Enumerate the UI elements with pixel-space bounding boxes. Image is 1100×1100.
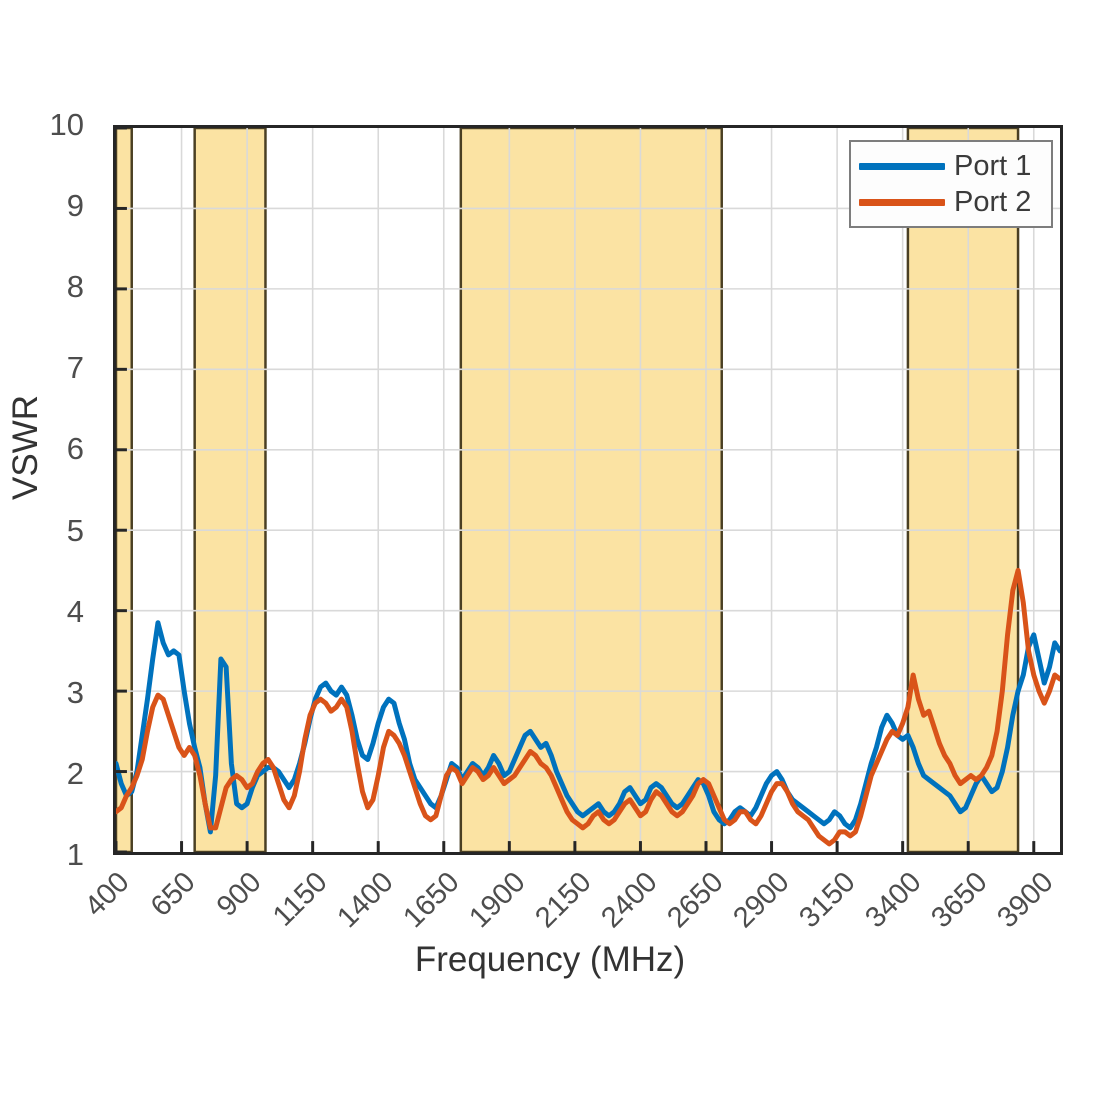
y-tick-label: 10 (24, 107, 84, 143)
plot-canvas (116, 128, 1060, 852)
y-tick-label: 5 (24, 513, 84, 549)
vswr-chart-figure: VSWR Frequency (MHz) 12345678910 4006509… (0, 0, 1100, 1100)
y-tick-label: 2 (24, 756, 84, 792)
y-tick-label: 1 (24, 837, 84, 873)
legend-item[interactable]: Port 2 (859, 185, 1043, 219)
y-tick-label: 7 (24, 350, 84, 386)
highlight-band (908, 128, 1018, 852)
y-tick-label: 9 (24, 188, 84, 224)
y-tick-label: 8 (24, 269, 84, 305)
legend-label: Port 2 (954, 188, 1031, 217)
legend-item[interactable]: Port 1 (859, 149, 1043, 183)
y-tick-label: 4 (24, 594, 84, 630)
chart-legend[interactable]: Port 1Port 2 (849, 140, 1053, 228)
highlight-band (116, 128, 132, 852)
legend-label: Port 1 (954, 152, 1031, 181)
y-tick-label: 6 (24, 431, 84, 467)
plot-area (113, 125, 1063, 855)
y-tick-label: 3 (24, 675, 84, 711)
highlight-band (461, 128, 722, 852)
legend-color-swatch (859, 163, 945, 170)
legend-color-swatch (859, 199, 945, 206)
